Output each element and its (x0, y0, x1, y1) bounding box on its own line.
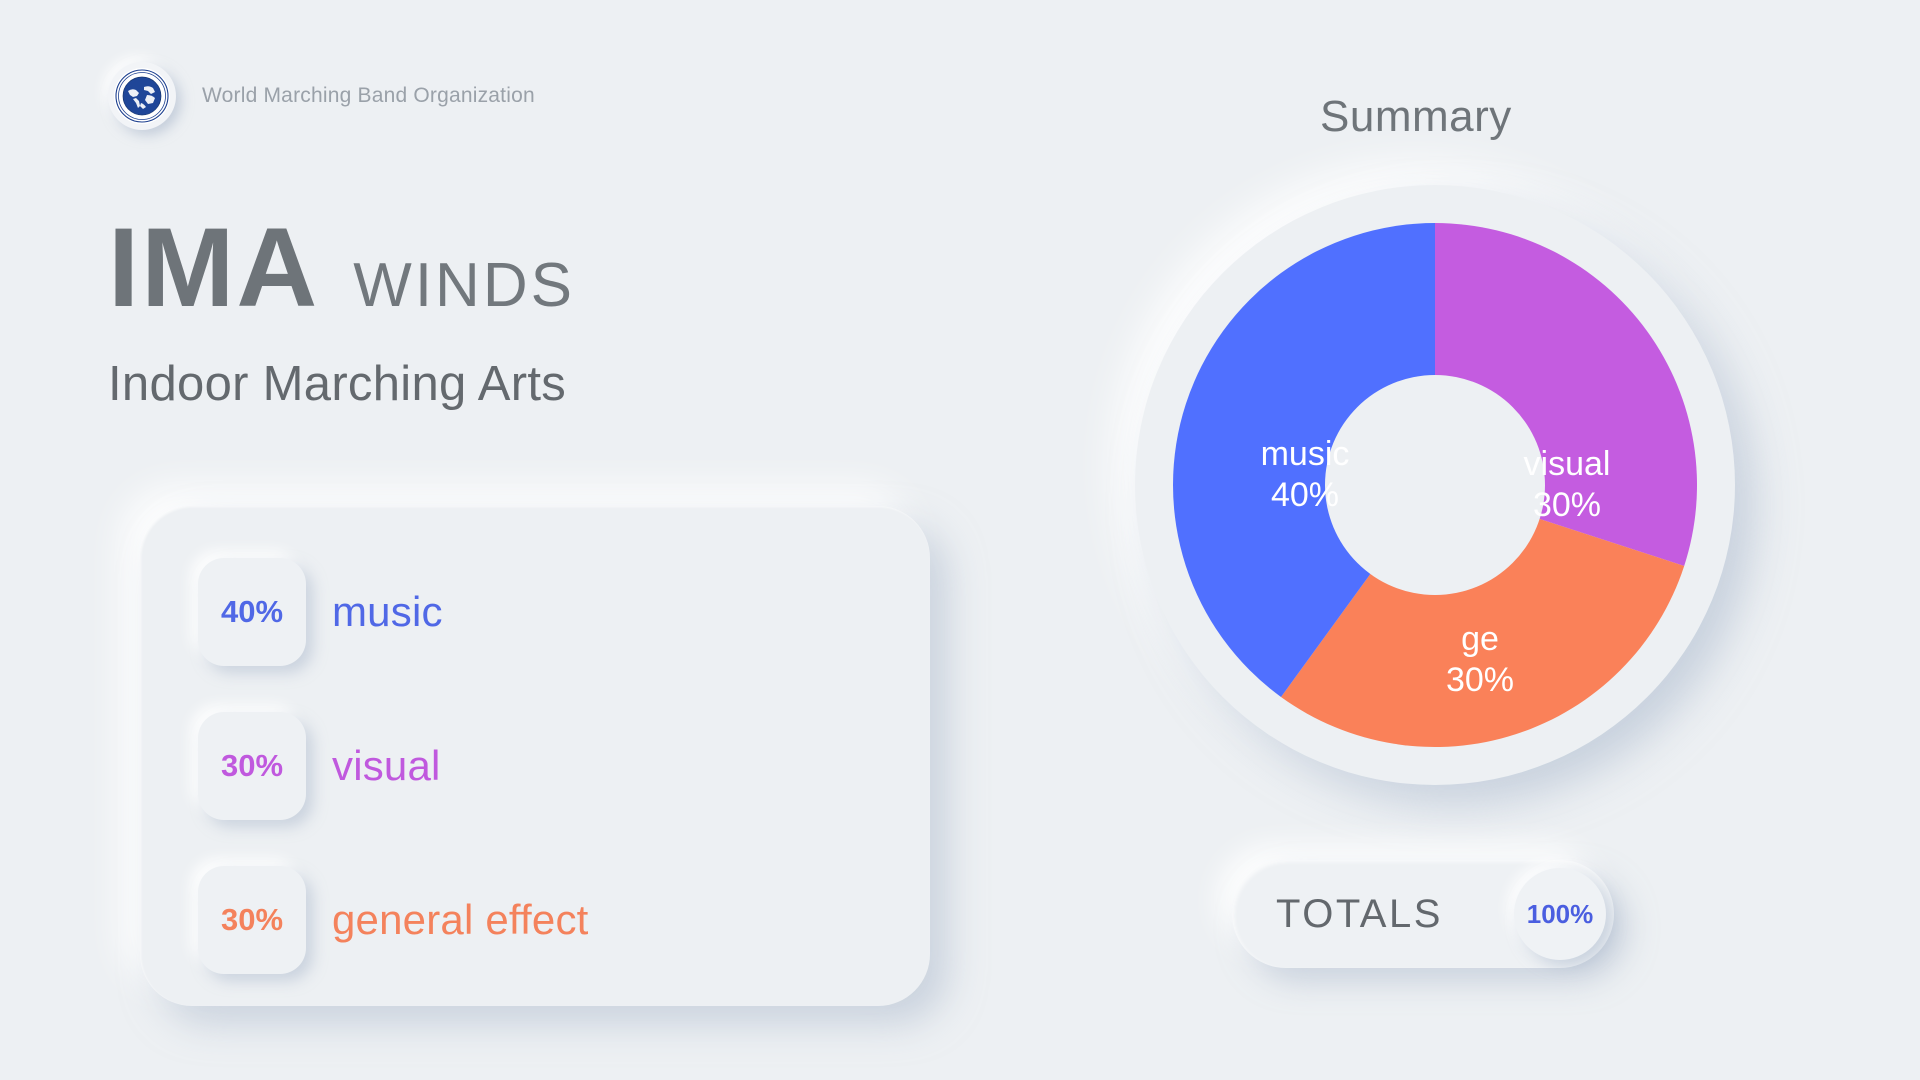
summary-title: Summary (1320, 92, 1512, 142)
legend-list: 40% music 30% visual 30% general effect (198, 558, 930, 974)
page-subtitle: Indoor Marching Arts (108, 358, 575, 412)
list-item[interactable]: 30% visual (198, 712, 930, 820)
brand-header: World Marching Band Organization (108, 62, 535, 130)
list-item[interactable]: 30% general effect (198, 866, 930, 974)
page-title-suffix: WINDS (353, 255, 575, 317)
donut-center-hole (1325, 375, 1545, 595)
percent-badge: 30% (198, 866, 306, 974)
percent-badge: 30% (198, 712, 306, 820)
organization-name: World Marching Band Organization (202, 84, 535, 108)
legend-label: general effect (332, 896, 589, 944)
legend-percent: 30% (221, 748, 283, 784)
legend-label: music (332, 588, 443, 636)
globe-badge-icon (108, 62, 176, 130)
totals-value: 100% (1527, 899, 1594, 930)
totals-knob[interactable]: 100% (1514, 868, 1606, 960)
percent-badge: 40% (198, 558, 306, 666)
totals-label: TOTALS (1276, 892, 1443, 937)
title-block: IMA WINDS Indoor Marching Arts (108, 212, 575, 412)
legend-card: 40% music 30% visual 30% general effect (140, 506, 930, 1006)
legend-percent: 30% (221, 902, 283, 938)
legend-percent: 40% (221, 594, 283, 630)
page-title: IMA (108, 212, 319, 324)
donut-chart: music 40% visual 30% ge 30% (1135, 185, 1735, 785)
dashboard-root: World Marching Band Organization IMA WIN… (0, 0, 1920, 1080)
list-item[interactable]: 40% music (198, 558, 930, 666)
legend-label: visual (332, 742, 441, 790)
totals-pill[interactable]: TOTALS 100% (1232, 860, 1614, 968)
